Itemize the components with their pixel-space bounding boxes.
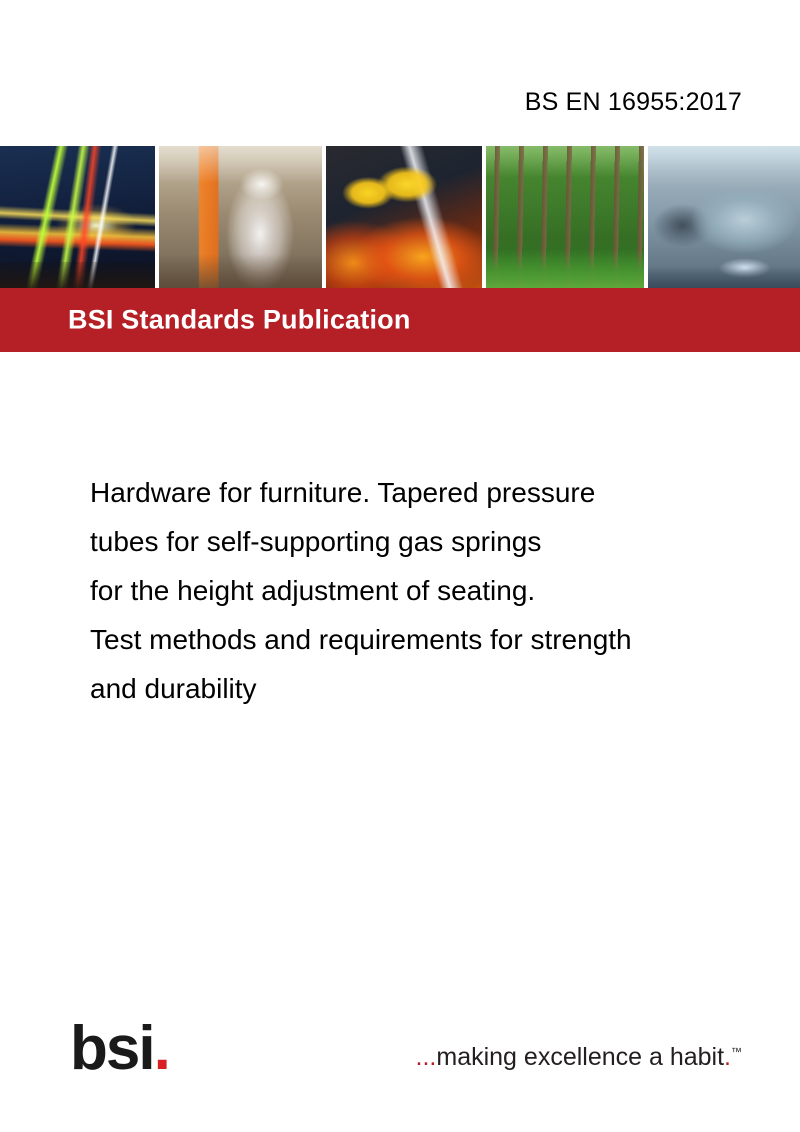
banner-label: BSI Standards Publication <box>68 305 411 336</box>
car-assembly-photo <box>648 146 800 288</box>
document-title: Hardware for furniture. Tapered pressure… <box>90 468 730 713</box>
tagline-ellipsis: ... <box>416 1043 437 1071</box>
tagline-text: making excellence a habit <box>436 1043 724 1071</box>
standard-number: BS EN 16955:2017 <box>525 88 742 117</box>
tagline-period: . <box>724 1043 731 1071</box>
firefighters-photo <box>326 146 482 288</box>
bsi-logo-dot: . <box>154 1014 169 1083</box>
forest-photo <box>486 146 644 288</box>
title-line-3: for the height adjustment of seating. <box>90 566 730 615</box>
bsi-tagline: ...making excellence a habit.™ <box>416 1045 742 1070</box>
warehouse-worker-photo <box>159 146 322 288</box>
title-line-1: Hardware for furniture. Tapered pressure <box>90 468 730 517</box>
bsi-standard-cover-page: { "document": { "standard_number": "BS E… <box>0 0 800 1132</box>
cover-photo-strip <box>0 146 800 288</box>
bsi-logo-text: bsi <box>70 1014 154 1083</box>
title-line-5: and durability <box>90 664 730 713</box>
publication-banner: BSI Standards Publication <box>0 288 800 352</box>
trademark-icon: ™ <box>731 1047 742 1059</box>
title-line-4: Test methods and requirements for streng… <box>90 615 730 664</box>
title-line-2: tubes for self-supporting gas springs <box>90 517 730 566</box>
bsi-logo: bsi. <box>70 1018 169 1080</box>
traffic-light-trails-photo <box>0 146 155 288</box>
